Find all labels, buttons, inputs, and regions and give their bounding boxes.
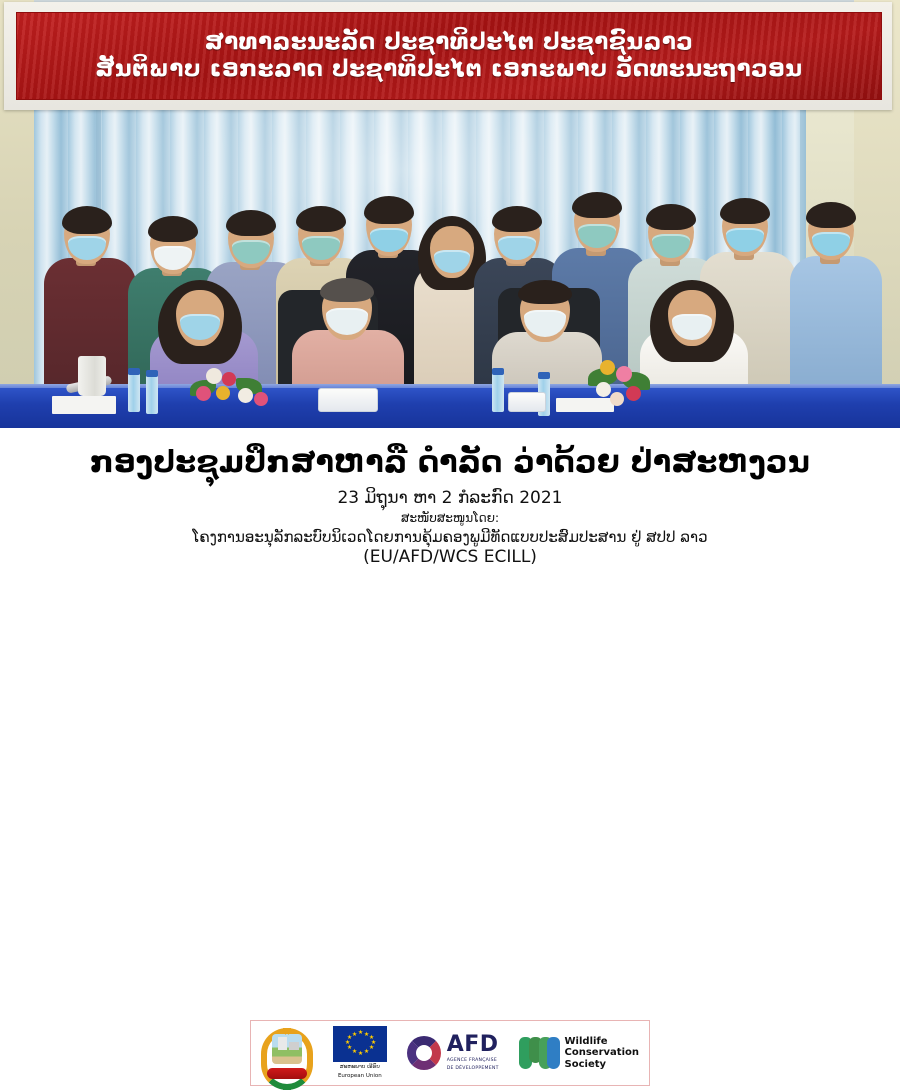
eu-caption-en: European Union bbox=[338, 1073, 382, 1080]
bottle-cap-3 bbox=[492, 368, 504, 375]
water-bottle-3 bbox=[492, 372, 504, 412]
document-1 bbox=[52, 396, 116, 414]
red-banner: ສາທາລະນະລັດ ປະຊາທິປະໄຕ ປະຊາຊົນລາວ ສັນຕິພ… bbox=[16, 12, 882, 100]
meeting-group-photo: ສາທາລະນະລັດ ປະຊາທິປະໄຕ ປະຊາຊົນລາວ ສັນຕິພ… bbox=[0, 0, 900, 428]
wcs-w-icon bbox=[519, 1037, 559, 1069]
afd-ring-icon bbox=[407, 1036, 441, 1070]
bottle-cap-2 bbox=[146, 370, 158, 377]
tissue-box-2 bbox=[508, 392, 546, 412]
slide-root: ສາທາລະນະລັດ ປະຊາທິປະໄຕ ປະຊາຊົນລາວ ສັນຕິພ… bbox=[0, 0, 900, 675]
event-title: ກອງປະຊຸມປຶກສາຫາລື ດຳລັດ ວ່າດ້ວຍ ປ່າສະຫງວ… bbox=[0, 444, 900, 482]
project-acronym: (EU/AFD/WCS ECILL) bbox=[0, 547, 900, 567]
eu-caption-lao: ສະຫະພາບ ເອີຣົບ bbox=[340, 1064, 380, 1071]
paper-cup bbox=[78, 356, 106, 396]
water-bottle-2 bbox=[146, 374, 158, 414]
supported-by-label: ສະໜັບສະໜູນໂດຍ: bbox=[0, 511, 900, 525]
logo-bar: ★ ★ ★ ★ ★ ★ ★ ★ ★ ★ ★ ★ ★ bbox=[250, 1020, 650, 1086]
wcs-line-2: Conservation bbox=[565, 1047, 639, 1058]
afd-logo: AFD AGENCE FRANÇAISE DE DÉVELOPPEMENT bbox=[407, 1034, 499, 1072]
european-union-logo: ★ ★ ★ ★ ★ ★ ★ ★ ★ ★ ★ ★ ສະຫະພາບ ເອີຣົບ E… bbox=[333, 1026, 387, 1080]
bottle-cap-1 bbox=[128, 368, 140, 375]
afd-subtitle-2: DE DÉVELOPPEMENT bbox=[447, 1066, 499, 1072]
event-date: 23 ມິຖຸນາ ຫາ 2 ກໍລະກົດ 2021 bbox=[0, 488, 900, 508]
caption-panel: ກອງປະຊຸມປຶກສາຫາລື ດຳລັດ ວ່າດ້ວຍ ປ່າສະຫງວ… bbox=[0, 428, 900, 675]
wcs-logo: Wildlife Conservation Society bbox=[519, 1036, 639, 1070]
lao-national-emblem-logo: ★ bbox=[261, 1026, 313, 1080]
wcs-line-3: Society bbox=[565, 1059, 639, 1070]
project-name: ໂຄງການອະນຸລັກລະບົບນິເວດໂດຍການຄຸ້ມຄອງພູມີ… bbox=[0, 527, 900, 547]
afd-subtitle-1: AGENCE FRANÇAISE bbox=[447, 1058, 499, 1064]
banner-backdrop: ສາທາລະນະລັດ ປະຊາທິປະໄຕ ປະຊາຊົນລາວ ສັນຕິພ… bbox=[4, 2, 892, 110]
lao-emblem-icon: ★ bbox=[261, 1026, 313, 1080]
document-2 bbox=[556, 398, 614, 412]
tissue-box-1 bbox=[318, 388, 378, 412]
banner-line-2: ສັນຕິພາບ ເອກະລາດ ປະຊາທິປະໄຕ ເອກະພາບ ວັດທ… bbox=[95, 56, 802, 83]
wcs-line-1: Wildlife bbox=[565, 1036, 639, 1047]
water-bottle-1 bbox=[128, 372, 140, 412]
banner-line-1: ສາທາລະນະລັດ ປະຊາທິປະໄຕ ປະຊາຊົນລາວ bbox=[205, 29, 694, 56]
eu-flag-icon: ★ ★ ★ ★ ★ ★ ★ ★ ★ ★ ★ ★ bbox=[333, 1026, 387, 1062]
afd-wordmark: AFD bbox=[447, 1034, 499, 1056]
bottle-cap-4 bbox=[538, 372, 550, 379]
